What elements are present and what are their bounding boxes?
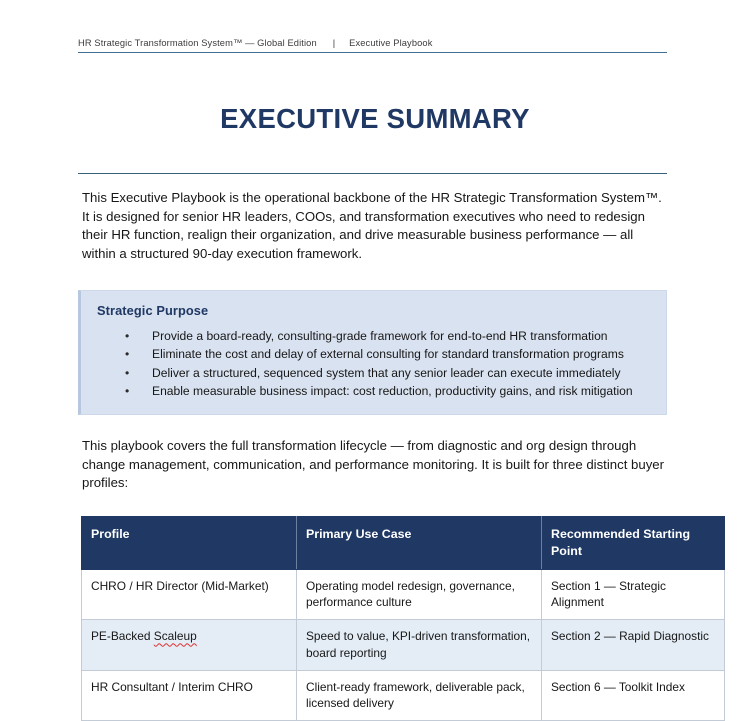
cell-profile: PE-Backed Scaleup (82, 620, 297, 670)
list-item: • Provide a board-ready, consulting-grad… (97, 327, 652, 345)
cell-use-case: Speed to value, KPI-driven transformatio… (297, 620, 542, 670)
bullet-icon: • (125, 382, 129, 400)
cell-use-case: Operating model redesign, governance, pe… (297, 570, 542, 620)
column-header-profile: Profile (82, 517, 297, 570)
list-item: • Enable measurable business impact: cos… (97, 382, 652, 400)
column-header-primary-use-case: Primary Use Case (297, 517, 542, 570)
strategic-purpose-callout: Strategic Purpose • Provide a board-read… (78, 290, 667, 415)
cell-section: Section 1 — Strategic Alignment (542, 570, 725, 620)
title-divider (78, 173, 667, 174)
bullet-icon: • (125, 345, 129, 363)
intro-paragraph: This Executive Playbook is the operation… (82, 189, 667, 263)
table-row: HR Consultant / Interim CHRO Client-read… (82, 670, 725, 720)
table-header-row: Profile Primary Use Case Recommended Sta… (82, 517, 725, 570)
running-header-separator: | (317, 38, 349, 48)
misspelled-word: Scaleup (154, 629, 197, 643)
callout-bullet-list: • Provide a board-ready, consulting-grad… (97, 327, 652, 401)
running-header-right: Executive Playbook (349, 38, 432, 48)
list-item-label: Provide a board-ready, consulting-grade … (152, 329, 608, 343)
list-item: • Deliver a structured, sequenced system… (97, 364, 652, 382)
callout-title: Strategic Purpose (97, 303, 652, 318)
buyer-profile-table: Profile Primary Use Case Recommended Sta… (81, 516, 725, 721)
cell-profile-text: PE-Backed (91, 629, 154, 643)
cell-use-case: Client-ready framework, deliverable pack… (297, 670, 542, 720)
table-row: CHRO / HR Director (Mid-Market) Operatin… (82, 570, 725, 620)
bullet-icon: • (125, 327, 129, 345)
list-item-label: Enable measurable business impact: cost … (152, 384, 633, 398)
table-body: CHRO / HR Director (Mid-Market) Operatin… (82, 570, 725, 721)
list-item: • Eliminate the cost and delay of extern… (97, 345, 652, 363)
table-header: Profile Primary Use Case Recommended Sta… (82, 517, 725, 570)
bullet-icon: • (125, 364, 129, 382)
cell-profile: HR Consultant / Interim CHRO (82, 670, 297, 720)
running-header-left: HR Strategic Transformation System™ — Gl… (78, 38, 317, 48)
cell-section: Section 2 — Rapid Diagnostic (542, 620, 725, 670)
lifecycle-paragraph: This playbook covers the full transforma… (82, 437, 667, 493)
running-header: HR Strategic Transformation System™ — Gl… (78, 38, 667, 53)
list-item-label: Deliver a structured, sequenced system t… (152, 366, 621, 380)
column-header-recommended-starting-point: Recommended Starting Point (542, 517, 725, 570)
table-row: PE-Backed Scaleup Speed to value, KPI-dr… (82, 620, 725, 670)
page-title: EXECUTIVE SUMMARY (0, 103, 750, 135)
list-item-label: Eliminate the cost and delay of external… (152, 347, 624, 361)
document-page: HR Strategic Transformation System™ — Gl… (0, 0, 750, 691)
cell-profile: CHRO / HR Director (Mid-Market) (82, 570, 297, 620)
cell-section: Section 6 — Toolkit Index (542, 670, 725, 720)
